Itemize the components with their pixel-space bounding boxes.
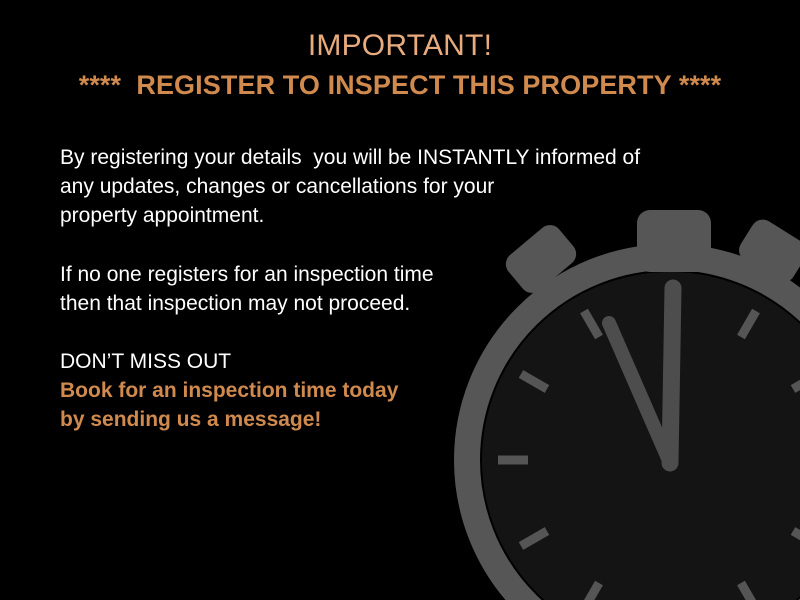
body-block: By registering your details you will be …	[60, 143, 760, 434]
headline-block: IMPORTANT! **** REGISTER TO INSPECT THIS…	[0, 26, 800, 104]
paragraph-spacer	[60, 318, 760, 347]
paragraph-registering-details: By registering your details you will be …	[60, 143, 760, 230]
paragraph-line: property appointment.	[60, 201, 760, 230]
paragraph-line: If no one registers for an inspection ti…	[60, 260, 760, 289]
paragraph-line: then that inspection may not proceed.	[60, 289, 760, 318]
book-inspection-line: Book for an inspection time today	[60, 376, 760, 405]
paragraph-spacer	[60, 230, 760, 260]
paragraph-line: any updates, changes or cancellations fo…	[60, 172, 760, 201]
paragraph-no-registrations: If no one registers for an inspection ti…	[60, 260, 760, 318]
headline-important: IMPORTANT!	[0, 26, 800, 66]
text-content-layer: IMPORTANT! **** REGISTER TO INSPECT THIS…	[0, 0, 800, 600]
slide-canvas: IMPORTANT! **** REGISTER TO INSPECT THIS…	[0, 0, 800, 600]
headline-register-to-inspect: **** REGISTER TO INSPECT THIS PROPERTY *…	[0, 66, 800, 104]
paragraph-call-to-action: DON’T MISS OUT Book for an inspection ti…	[60, 347, 760, 434]
send-message-line: by sending us a message!	[60, 405, 760, 434]
paragraph-line: By registering your details you will be …	[60, 143, 760, 172]
dont-miss-out-line: DON’T MISS OUT	[60, 347, 760, 376]
